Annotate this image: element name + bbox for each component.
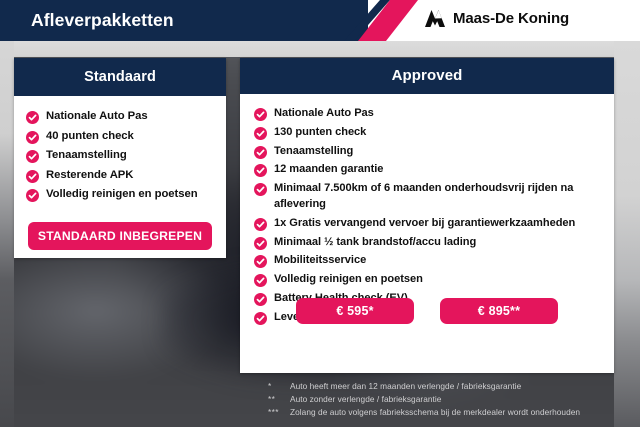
- check-circle-icon: [254, 183, 267, 196]
- feature-label: Nationale Auto Pas: [46, 109, 148, 125]
- check-circle-icon: [254, 164, 267, 177]
- background-left-strip: [0, 41, 14, 427]
- feature-label: 130 punten check: [274, 125, 366, 141]
- check-circle-icon: [254, 146, 267, 159]
- footnote-text: Zolang de auto volgens fabrieksschema bi…: [290, 407, 580, 418]
- page-header: Afleverpakketten Maas-De Koning: [0, 0, 640, 41]
- check-circle-icon: [26, 150, 39, 163]
- feature-label: 1x Gratis vervangend vervoer bij garanti…: [274, 216, 575, 232]
- list-item: 12 maanden garantie: [254, 162, 614, 178]
- footnote-row: ** Auto zonder verlengde / fabrieksgaran…: [268, 394, 580, 405]
- check-circle-icon: [26, 170, 39, 183]
- check-circle-icon: [254, 237, 267, 250]
- feature-label: Tenaamstelling: [46, 148, 127, 164]
- maas-de-koning-m-icon: [424, 9, 446, 28]
- list-item: Nationale Auto Pas: [254, 106, 614, 122]
- background-right-strip: [614, 41, 640, 427]
- list-item: Mobiliteitsservice: [254, 253, 614, 269]
- feature-label: Resterende APK: [46, 168, 133, 184]
- footnote-marker: **: [268, 394, 290, 405]
- feature-label: Volledig reinigen en poetsen: [46, 187, 198, 203]
- list-item: 1x Gratis vervangend vervoer bij garanti…: [254, 216, 614, 232]
- footnote-text: Auto heeft meer dan 12 maanden verlengde…: [290, 381, 521, 392]
- price-button-595[interactable]: € 595*: [296, 298, 414, 324]
- list-item: Tenaamstelling: [254, 144, 614, 160]
- feature-label: Minimaal 7.500km of 6 maanden onderhouds…: [274, 181, 614, 213]
- check-circle-icon: [254, 274, 267, 287]
- list-item: Resterende APK: [26, 168, 226, 184]
- list-item: Minimaal 7.500km of 6 maanden onderhouds…: [254, 181, 614, 213]
- footnotes: * Auto heeft meer dan 12 maanden verleng…: [268, 381, 580, 420]
- brand-logo: Maas-De Koning: [424, 9, 569, 28]
- standaard-inbegrepen-button[interactable]: STANDAARD INBEGREPEN: [28, 222, 212, 250]
- price-button-895[interactable]: € 895**: [440, 298, 558, 324]
- feature-label: 12 maanden garantie: [274, 162, 383, 178]
- list-item: Volledig reinigen en poetsen: [26, 187, 226, 203]
- card-title-approved: Approved: [392, 67, 463, 84]
- list-item: Volledig reinigen en poetsen: [254, 272, 614, 288]
- feature-label: 40 punten check: [46, 129, 134, 145]
- footnote-row: * Auto heeft meer dan 12 maanden verleng…: [268, 381, 580, 392]
- feature-list-approved: Nationale Auto Pas 130 punten check Tena…: [240, 94, 614, 326]
- page-title: Afleverpakketten: [31, 9, 174, 32]
- check-circle-icon: [254, 108, 267, 121]
- footnote-marker: ***: [268, 407, 290, 418]
- card-title-standaard: Standaard: [84, 69, 156, 85]
- feature-list-standaard: Nationale Auto Pas 40 punten check Tenaa…: [14, 96, 226, 203]
- check-circle-icon: [254, 127, 267, 140]
- check-circle-icon: [26, 111, 39, 124]
- background-top-band: [0, 41, 640, 57]
- feature-label: Nationale Auto Pas: [274, 106, 374, 122]
- price-button-row: € 595* € 895**: [240, 298, 614, 324]
- footnote-marker: *: [268, 381, 290, 392]
- card-header-approved: Approved: [240, 58, 614, 94]
- feature-label: Volledig reinigen en poetsen: [274, 272, 423, 288]
- brand-name: Maas-De Koning: [453, 9, 569, 28]
- card-header-standaard: Standaard: [14, 58, 226, 96]
- list-item: 130 punten check: [254, 125, 614, 141]
- check-circle-icon: [26, 131, 39, 144]
- package-card-approved: Approved Nationale Auto Pas 130 punten c…: [240, 58, 614, 373]
- feature-label: Tenaamstelling: [274, 144, 353, 160]
- check-circle-icon: [254, 255, 267, 268]
- package-card-standaard: Standaard Nationale Auto Pas 40 punten c…: [14, 58, 226, 258]
- check-circle-icon: [254, 218, 267, 231]
- footnote-row: *** Zolang de auto volgens fabrieksschem…: [268, 407, 580, 418]
- slide-canvas: Afleverpakketten Maas-De Koning Standaar…: [0, 0, 640, 427]
- list-item: Minimaal ½ tank brandstof/accu lading: [254, 235, 614, 251]
- list-item: 40 punten check: [26, 129, 226, 145]
- feature-label: Minimaal ½ tank brandstof/accu lading: [274, 235, 476, 251]
- footnote-text: Auto zonder verlengde / fabrieksgarantie: [290, 394, 441, 405]
- feature-label: Mobiliteitsservice: [274, 253, 366, 269]
- check-circle-icon: [26, 189, 39, 202]
- list-item: Nationale Auto Pas: [26, 109, 226, 125]
- list-item: Tenaamstelling: [26, 148, 226, 164]
